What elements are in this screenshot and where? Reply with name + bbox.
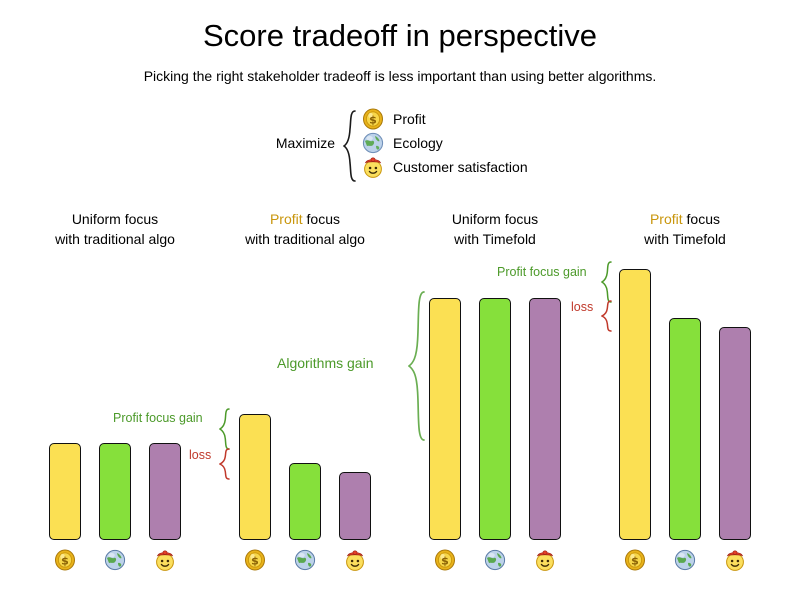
- bar: [339, 472, 371, 540]
- annotation-profit-focus-gain-1: Profit focus gain: [113, 411, 203, 425]
- coin-icon: $: [244, 549, 266, 571]
- bar: [49, 443, 81, 540]
- bar: [529, 298, 561, 540]
- bar: [99, 443, 131, 540]
- brace-loss-1: [219, 448, 231, 485]
- bar: [429, 298, 461, 540]
- annotation-profit-focus-gain-2: Profit focus gain: [497, 265, 587, 279]
- smiley-icon: [724, 549, 746, 571]
- coin-icon: $: [54, 549, 76, 571]
- bar: [619, 269, 651, 540]
- svg-text:$: $: [631, 554, 639, 567]
- brace-loss-2: [601, 300, 613, 337]
- coin-icon: $: [624, 549, 646, 571]
- globe-icon: [674, 549, 696, 571]
- annotation-loss-1: loss: [189, 448, 211, 462]
- chart-canvas: Score tradeoff in perspective Picking th…: [0, 0, 800, 600]
- bar: [719, 327, 751, 540]
- smiley-icon: [534, 549, 556, 571]
- annotation-algorithms-gain: Algorithms gain: [277, 355, 374, 371]
- smiley-icon: [154, 549, 176, 571]
- annotation-loss-2: loss: [571, 300, 593, 314]
- brace-algorithms-gain: [408, 290, 426, 447]
- svg-text:$: $: [61, 554, 69, 567]
- bar: [479, 298, 511, 540]
- bar: [239, 414, 271, 540]
- globe-icon: [294, 549, 316, 571]
- bar: [289, 463, 321, 540]
- bar: [149, 443, 181, 540]
- svg-text:$: $: [251, 554, 259, 567]
- svg-text:$: $: [441, 554, 449, 567]
- globe-icon: [484, 549, 506, 571]
- plot-area: $$$$: [0, 0, 800, 600]
- bar: [669, 318, 701, 540]
- smiley-icon: [344, 549, 366, 571]
- coin-icon: $: [434, 549, 456, 571]
- globe-icon: [104, 549, 126, 571]
